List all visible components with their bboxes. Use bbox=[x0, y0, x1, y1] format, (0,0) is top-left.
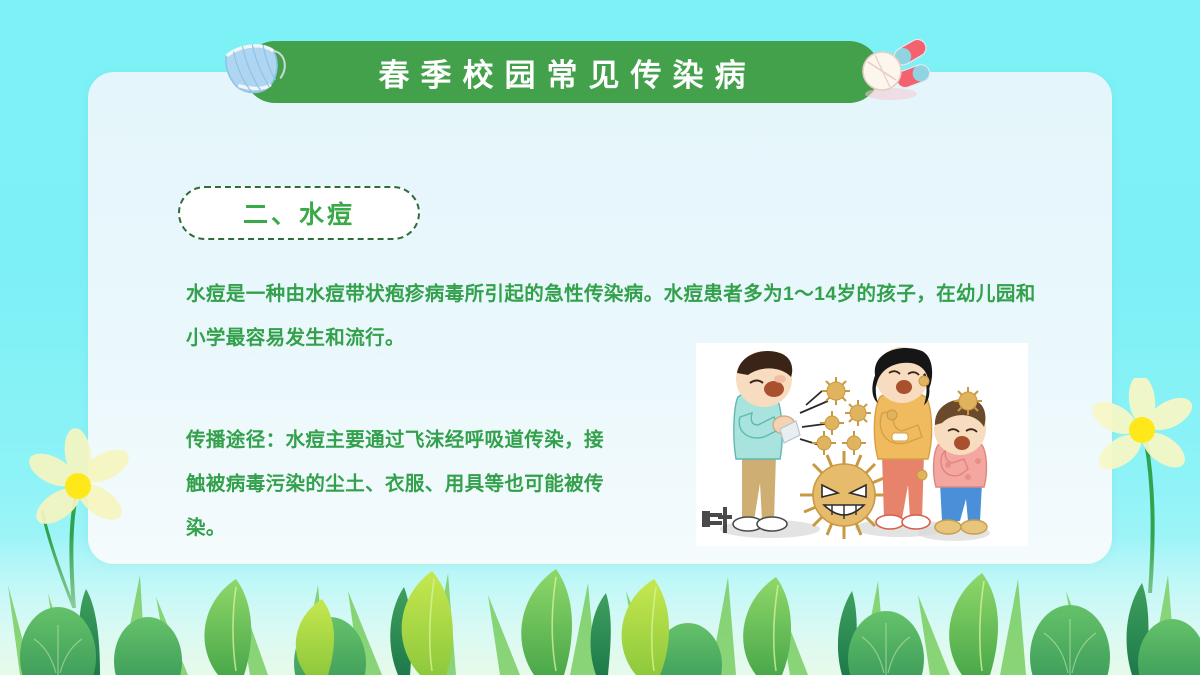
slide-title-bar: 春季校园常见传染病 bbox=[244, 41, 880, 103]
section-heading-label: 二、水痘 bbox=[243, 195, 355, 231]
face-mask-icon bbox=[218, 36, 290, 102]
section-heading-badge: 二、水痘 bbox=[178, 186, 420, 240]
slide-canvas: 春季校园常见传染病 二、水痘 水痘是一种由水痘带状疱疹病毒所引起的急性传染病。水… bbox=[0, 0, 1200, 675]
pills-icon bbox=[856, 38, 932, 104]
grass-leaves-band bbox=[0, 535, 1200, 675]
chickenpox-transmission-illustration bbox=[696, 343, 1028, 546]
slide-title: 春季校园常见传染病 bbox=[368, 50, 757, 95]
paragraph-transmission-route: 传播途径：水痘主要通过飞沫经呼吸道传染，接触被病毒污染的尘土、衣服、用具等也可能… bbox=[186, 418, 606, 550]
